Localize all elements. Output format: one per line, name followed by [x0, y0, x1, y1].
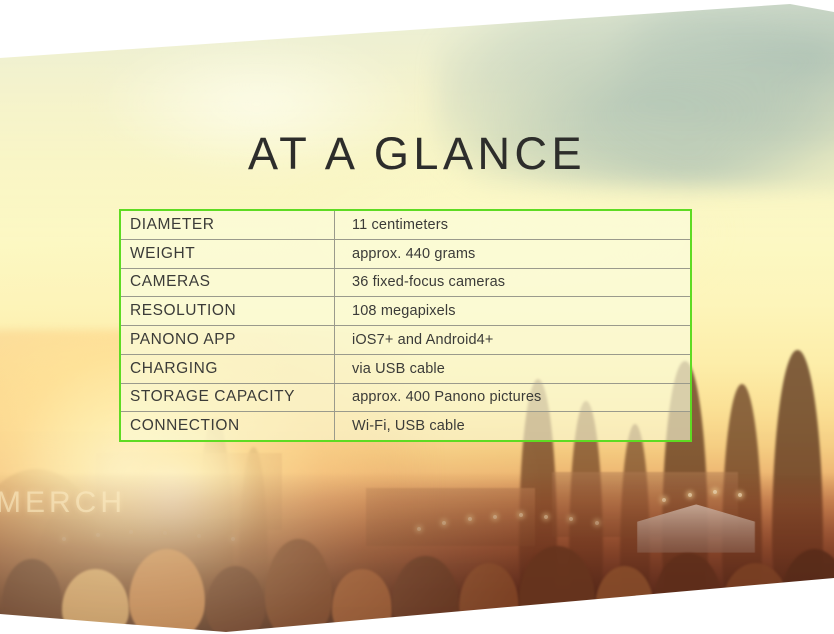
table-row: CHARGING via USB cable: [121, 355, 690, 384]
spec-value: approx. 400 Panono pictures: [335, 389, 690, 405]
spec-label: DIAMETER: [121, 211, 335, 239]
slide: MERCH AT A GLANCE DIAMETER 11 centimeter…: [0, 0, 834, 634]
table-row: DIAMETER 11 centimeters: [121, 211, 690, 240]
spec-value: approx. 440 grams: [335, 246, 690, 262]
spec-value: via USB cable: [335, 361, 690, 377]
spec-label: STORAGE CAPACITY: [121, 384, 335, 412]
spec-value: 11 centimeters: [335, 217, 690, 233]
spec-label: WEIGHT: [121, 240, 335, 268]
table-row: WEIGHT approx. 440 grams: [121, 240, 690, 269]
table-row: CAMERAS 36 fixed-focus cameras: [121, 269, 690, 298]
spec-value: 108 megapixels: [335, 303, 690, 319]
spec-label: CHARGING: [121, 355, 335, 383]
spec-label: RESOLUTION: [121, 297, 335, 325]
spec-label: CAMERAS: [121, 269, 335, 297]
page-title: AT A GLANCE: [0, 128, 834, 180]
spec-value: 36 fixed-focus cameras: [335, 274, 690, 290]
spec-table: DIAMETER 11 centimeters WEIGHT approx. 4…: [119, 209, 692, 442]
spec-value: iOS7+ and Android4+: [335, 332, 690, 348]
table-row: STORAGE CAPACITY approx. 400 Panono pict…: [121, 384, 690, 413]
spec-label: PANONO APP: [121, 326, 335, 354]
table-row: CONNECTION Wi-Fi, USB cable: [121, 412, 690, 440]
spec-value: Wi-Fi, USB cable: [335, 418, 690, 434]
table-row: RESOLUTION 108 megapixels: [121, 297, 690, 326]
spec-label: CONNECTION: [121, 412, 335, 440]
table-row: PANONO APP iOS7+ and Android4+: [121, 326, 690, 355]
